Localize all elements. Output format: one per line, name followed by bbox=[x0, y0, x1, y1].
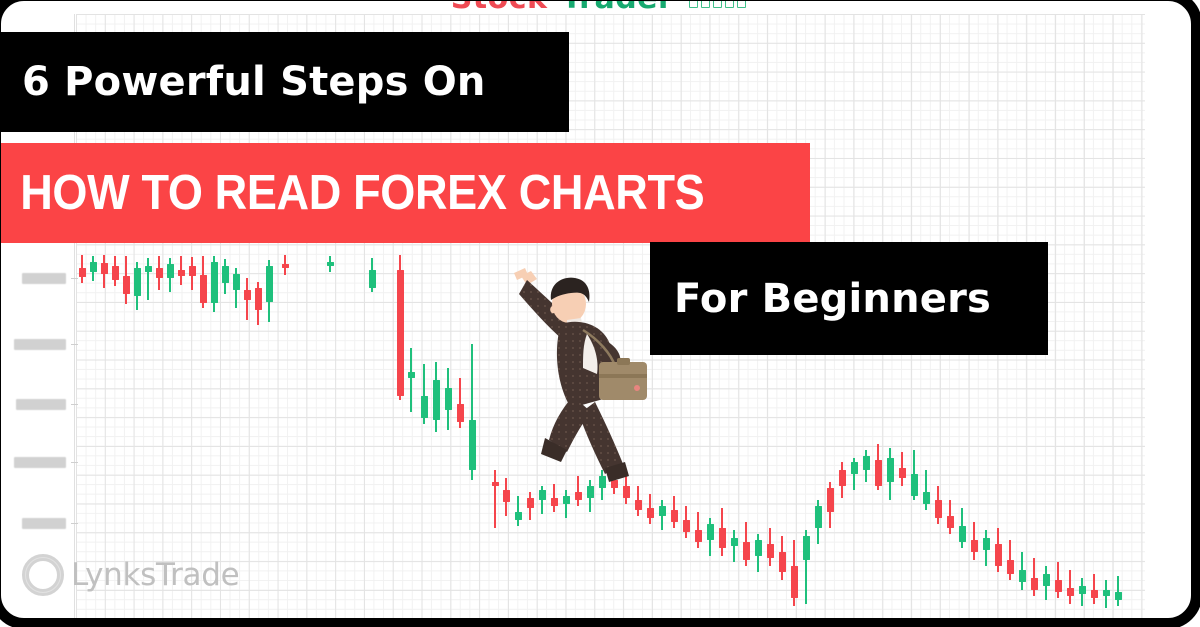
candle-body bbox=[899, 468, 906, 478]
candlestick bbox=[827, 482, 834, 528]
candlestick bbox=[983, 530, 990, 566]
candlestick bbox=[659, 500, 666, 530]
candle-body bbox=[971, 540, 978, 552]
candlestick bbox=[779, 536, 786, 580]
candle-body bbox=[469, 420, 476, 470]
candlestick bbox=[899, 452, 906, 486]
candle-body bbox=[779, 552, 786, 572]
candle-body bbox=[575, 492, 582, 500]
y-axis-label bbox=[14, 339, 66, 350]
candlestick bbox=[767, 528, 774, 566]
candle-body bbox=[408, 372, 415, 378]
candlestick bbox=[815, 500, 822, 544]
candle-wick bbox=[925, 470, 927, 510]
candlestick bbox=[947, 500, 954, 534]
candlestick bbox=[911, 450, 918, 500]
y-axis-tick bbox=[71, 462, 78, 463]
candlestick bbox=[959, 508, 966, 548]
candlestick bbox=[1067, 570, 1074, 604]
candlestick bbox=[803, 530, 810, 604]
candle-body bbox=[923, 492, 930, 504]
candle-body bbox=[719, 528, 726, 548]
candlestick bbox=[211, 256, 218, 312]
y-axis-label bbox=[22, 518, 66, 529]
headline-sub-block: For Beginners bbox=[650, 242, 1048, 355]
candlestick bbox=[112, 256, 119, 286]
briefcase-handle bbox=[617, 358, 630, 365]
candle-body bbox=[1067, 588, 1074, 596]
candlestick bbox=[282, 255, 289, 275]
candle-wick bbox=[1069, 570, 1071, 604]
candle-body bbox=[178, 270, 185, 276]
candle-body bbox=[156, 268, 163, 278]
candle-body bbox=[421, 396, 428, 418]
candlestick bbox=[101, 255, 108, 288]
candle-wick bbox=[147, 258, 149, 300]
headline-top-text: 6 Powerful Steps On bbox=[0, 62, 486, 102]
candle-body bbox=[887, 458, 894, 482]
candlestick bbox=[743, 522, 750, 566]
candlestick bbox=[244, 278, 251, 320]
candlestick bbox=[167, 258, 174, 292]
candlestick bbox=[755, 534, 762, 572]
briefcase-band bbox=[599, 374, 647, 378]
candlestick bbox=[200, 256, 207, 308]
candle-body bbox=[1103, 590, 1110, 596]
candle-body bbox=[457, 404, 464, 422]
candlestick bbox=[695, 512, 702, 548]
candle-wick bbox=[517, 496, 519, 526]
candle-body bbox=[647, 508, 654, 518]
candle-body bbox=[995, 544, 1002, 566]
candle-body bbox=[851, 462, 858, 474]
candle-wick bbox=[410, 348, 412, 412]
briefcase bbox=[599, 362, 647, 400]
candle-body bbox=[369, 270, 376, 288]
front-leg-pattern bbox=[579, 402, 623, 474]
candle-body bbox=[1115, 592, 1122, 600]
candle-body bbox=[947, 516, 954, 528]
headline-main-text: HOW TO READ FOREX CHARTS bbox=[0, 169, 704, 218]
candle-body bbox=[233, 274, 240, 290]
candle-body bbox=[935, 500, 942, 518]
candle-body bbox=[515, 512, 522, 520]
candlestick bbox=[156, 256, 163, 290]
candlestick bbox=[791, 540, 798, 606]
candlestick bbox=[145, 258, 152, 300]
candlestick bbox=[178, 256, 185, 285]
candle-body bbox=[222, 266, 229, 283]
candle-body bbox=[1031, 578, 1038, 590]
candle-body bbox=[527, 498, 534, 508]
candle-body bbox=[134, 268, 141, 296]
candlestick bbox=[369, 258, 376, 292]
candlestick bbox=[233, 268, 240, 308]
candle-body bbox=[90, 262, 97, 272]
candlestick bbox=[851, 458, 858, 490]
candlestick bbox=[887, 448, 894, 500]
candlestick bbox=[527, 492, 534, 520]
candlestick bbox=[1055, 562, 1062, 598]
candle-body bbox=[123, 276, 130, 294]
candle-body bbox=[244, 290, 251, 300]
candlestick bbox=[515, 496, 522, 526]
candlestick bbox=[923, 470, 930, 510]
candle-body bbox=[112, 266, 119, 280]
candle-body bbox=[863, 456, 870, 470]
candlestick bbox=[995, 528, 1002, 572]
candle-body bbox=[695, 530, 702, 542]
candlestick bbox=[671, 496, 678, 528]
candlestick bbox=[719, 508, 726, 556]
candle-body bbox=[839, 470, 846, 486]
platform-wordmark-green: Trader bbox=[561, 0, 673, 16]
platform-wordmark: StockTrader bbox=[0, 0, 1200, 11]
ring-circle-icon bbox=[22, 554, 64, 596]
candlestick bbox=[1019, 552, 1026, 590]
platform-wordmark-badges bbox=[689, 0, 749, 13]
y-axis-label bbox=[16, 399, 66, 410]
candle-body bbox=[731, 538, 738, 546]
candle-body bbox=[101, 263, 108, 274]
candlestick bbox=[397, 255, 404, 400]
candle-body bbox=[875, 460, 882, 486]
candle-body bbox=[282, 264, 289, 268]
candlestick bbox=[123, 256, 130, 304]
candle-body bbox=[551, 498, 558, 506]
candlestick bbox=[90, 256, 97, 281]
candle-body bbox=[743, 542, 750, 560]
candle-body bbox=[1091, 590, 1098, 598]
headline-sub-text: For Beginners bbox=[650, 279, 991, 319]
candlestick bbox=[189, 257, 196, 290]
brand-logo[interactable]: LynksTrade bbox=[22, 552, 239, 598]
candle-body bbox=[635, 500, 642, 510]
y-axis-tick bbox=[71, 344, 78, 345]
candle-body bbox=[827, 488, 834, 512]
candle-body bbox=[911, 474, 918, 496]
candle-body bbox=[983, 538, 990, 550]
candlestick bbox=[839, 462, 846, 498]
candle-body bbox=[397, 270, 404, 396]
y-axis-label bbox=[22, 273, 66, 284]
candlestick bbox=[971, 522, 978, 560]
y-axis-tick bbox=[71, 278, 78, 279]
platform-wordmark-red: Stock bbox=[451, 0, 548, 16]
briefcase-latch bbox=[634, 385, 640, 391]
candlestick bbox=[875, 444, 882, 490]
candlestick bbox=[1079, 578, 1086, 606]
candle-body bbox=[767, 544, 774, 558]
candle-body bbox=[755, 540, 762, 556]
candlestick bbox=[647, 494, 654, 524]
candle-body bbox=[1007, 560, 1014, 574]
candlestick bbox=[563, 490, 570, 518]
candle-body bbox=[327, 262, 334, 266]
candle-wick bbox=[565, 490, 567, 518]
candle-body bbox=[445, 388, 452, 410]
candle-body bbox=[255, 288, 262, 310]
candle-body bbox=[791, 566, 798, 598]
headline-top-block: 6 Powerful Steps On bbox=[0, 32, 569, 132]
candle-body bbox=[167, 264, 174, 278]
candlestick bbox=[327, 256, 334, 272]
candle-body bbox=[683, 520, 690, 532]
candle-body bbox=[707, 524, 714, 540]
candlestick bbox=[469, 344, 476, 480]
candlestick bbox=[1031, 558, 1038, 596]
candle-body bbox=[1019, 570, 1026, 582]
candle-wick bbox=[1033, 558, 1035, 596]
brand-name: LynksTrade bbox=[71, 557, 239, 593]
candle-body bbox=[433, 380, 440, 420]
candle-wick bbox=[1117, 576, 1119, 606]
candle-body bbox=[1055, 580, 1062, 592]
candlestick bbox=[707, 518, 714, 556]
candlestick bbox=[255, 282, 262, 325]
y-axis-tick bbox=[71, 404, 78, 405]
candle-body bbox=[189, 266, 196, 276]
candlestick bbox=[421, 364, 428, 424]
candlestick bbox=[134, 262, 141, 310]
candlestick bbox=[863, 450, 870, 482]
candle-body bbox=[563, 496, 570, 504]
candle-body bbox=[79, 268, 86, 277]
y-axis-tick bbox=[71, 523, 78, 524]
candle-body bbox=[145, 266, 152, 272]
candle-body bbox=[803, 536, 810, 560]
candle-body bbox=[1043, 574, 1050, 586]
candle-body bbox=[211, 262, 218, 303]
candlestick bbox=[79, 255, 86, 283]
candle-wick bbox=[1093, 574, 1095, 604]
candlestick bbox=[935, 486, 942, 524]
candlestick bbox=[457, 378, 464, 428]
candle-body bbox=[659, 506, 666, 516]
candlestick bbox=[1043, 566, 1050, 600]
y-axis-label bbox=[14, 457, 66, 468]
headline-main-banner: HOW TO READ FOREX CHARTS bbox=[0, 143, 810, 243]
candlestick bbox=[1091, 574, 1098, 604]
candlestick bbox=[266, 260, 273, 322]
candle-body bbox=[671, 510, 678, 522]
candle-body bbox=[266, 266, 273, 302]
candle-body bbox=[959, 526, 966, 542]
candlestick bbox=[408, 348, 415, 412]
candlestick bbox=[445, 368, 452, 430]
candlestick bbox=[1115, 576, 1122, 606]
candlestick bbox=[433, 362, 440, 432]
candlestick bbox=[222, 259, 229, 294]
candle-body bbox=[815, 506, 822, 528]
poster-canvas: StockTrader bbox=[0, 0, 1200, 627]
candlestick bbox=[1007, 540, 1014, 580]
candlestick bbox=[731, 530, 738, 562]
candle-body bbox=[1079, 586, 1086, 594]
candlestick bbox=[1103, 580, 1110, 608]
candle-wick bbox=[733, 530, 735, 562]
candlestick bbox=[683, 506, 690, 538]
candle-body bbox=[200, 275, 207, 303]
